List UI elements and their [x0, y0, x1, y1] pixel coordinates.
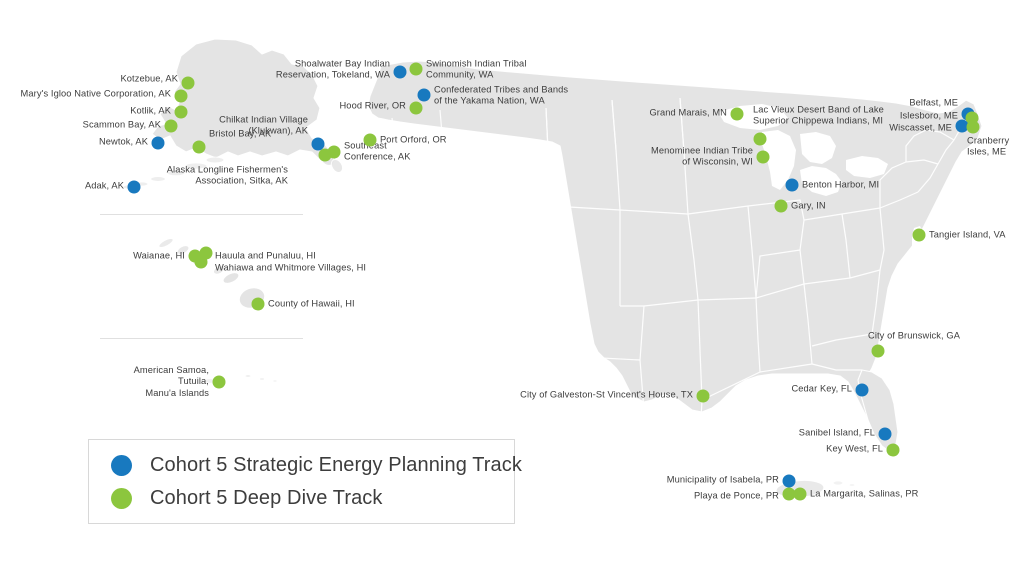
map-legend: Cohort 5 Strategic Energy Planning Track… — [88, 439, 515, 524]
map-marker-benton-harbor-mi[interactable] — [786, 179, 799, 192]
legend-swatch-strategic-icon — [111, 455, 132, 476]
map-marker-cranberry-isles-me[interactable] — [967, 121, 980, 134]
divider-alaska-hawaii — [100, 214, 303, 215]
map-label-belfast-me: Belfast, ME — [909, 97, 958, 108]
hawaii-islands — [158, 237, 268, 312]
map-marker-american-samoa[interactable] — [213, 376, 226, 389]
map-label-kotzebue-ak: Kotzebue, AK — [120, 73, 178, 84]
map-marker-scammon-bay-ak[interactable] — [165, 120, 178, 133]
map-label-gary-in: Gary, IN — [791, 200, 826, 211]
map-label-swinomish-wa: Swinomish Indian Tribal Community, WA — [426, 59, 526, 82]
map-label-cedar-key-fl: Cedar Key, FL — [791, 383, 852, 394]
map-marker-shoalwater-bay-wa[interactable] — [394, 66, 407, 79]
map-label-kotlik-ak: Kotlik, AK — [130, 105, 171, 116]
map-label-scammon-bay-ak: Scammon Bay, AK — [83, 119, 161, 130]
map-canvas: Kotzebue, AKMary's Igloo Native Corporat… — [0, 0, 1024, 576]
map-marker-marys-igloo-ak[interactable] — [175, 90, 188, 103]
map-marker-sanibel-island-fl[interactable] — [879, 428, 892, 441]
map-label-waianae-hi: Waianae, HI — [133, 250, 185, 261]
legend-label-deep-dive: Cohort 5 Deep Dive Track — [150, 487, 383, 510]
map-marker-lac-vieux-desert-mi[interactable] — [754, 133, 767, 146]
divider-hawaii-samoa — [100, 338, 303, 339]
map-label-city-of-brunswick-ga: City of Brunswick, GA — [868, 330, 960, 341]
map-marker-tangier-island-va[interactable] — [913, 229, 926, 242]
map-label-benton-harbor-mi: Benton Harbor, MI — [802, 179, 879, 190]
map-marker-grand-marais-mn[interactable] — [731, 108, 744, 121]
legend-label-strategic: Cohort 5 Strategic Energy Planning Track — [150, 454, 522, 477]
legend-item-strategic[interactable]: Cohort 5 Strategic Energy Planning Track — [111, 454, 522, 477]
map-marker-la-margarita-salinas-pr[interactable] — [794, 488, 807, 501]
map-label-wahiawa-whitmore-hi: Wahiawa and Whitmore Villages, HI — [215, 262, 366, 273]
map-label-grand-marais-mn: Grand Marais, MN — [649, 107, 727, 118]
map-label-county-of-hawaii-hi: County of Hawaii, HI — [268, 298, 355, 309]
map-label-adak-ak: Adak, AK — [85, 180, 124, 191]
legend-swatch-deep-dive-icon — [111, 488, 132, 509]
map-marker-menominee-wi[interactable] — [757, 151, 770, 164]
map-marker-wahiawa-whitmore-hi[interactable] — [195, 256, 208, 269]
map-label-chilkat-klukwan-ak: Chilkat Indian Village (Klukwan), AK — [219, 115, 308, 138]
map-marker-swinomish-wa[interactable] — [410, 63, 423, 76]
map-label-port-orford-or: Port Orford, OR — [380, 134, 447, 145]
map-label-marys-igloo-ak: Mary's Igloo Native Corporation, AK — [21, 88, 171, 99]
map-label-islesboro-me: Islesboro, ME — [900, 110, 958, 121]
map-label-alaska-longline-sitka-ak: Alaska Longline Fishermen's Association,… — [167, 165, 288, 188]
map-label-cranberry-isles-me: Cranberry Isles, ME — [967, 136, 1009, 159]
map-label-shoalwater-bay-wa: Shoalwater Bay Indian Reservation, Tokel… — [276, 59, 390, 82]
map-marker-hood-river-or[interactable] — [410, 102, 423, 115]
map-label-municipality-isabela-pr: Municipality of Isabela, PR — [667, 474, 779, 485]
map-label-key-west-fl: Key West, FL — [826, 443, 883, 454]
map-label-sanibel-island-fl: Sanibel Island, FL — [799, 427, 875, 438]
map-marker-city-of-galveston-tx[interactable] — [697, 390, 710, 403]
map-marker-municipality-isabela-pr[interactable] — [783, 475, 796, 488]
map-marker-southeast-conference-ak[interactable] — [328, 146, 341, 159]
map-label-wiscasset-me: Wiscasset, ME — [889, 122, 952, 133]
map-marker-adak-ak[interactable] — [128, 181, 141, 194]
map-marker-bristol-bay-ak[interactable] — [193, 141, 206, 154]
map-label-menominee-wi: Menominee Indian Tribe of Wisconsin, WI — [651, 146, 753, 169]
map-marker-cedar-key-fl[interactable] — [856, 384, 869, 397]
map-label-hauula-punaluu-hi: Hauula and Punaluu, HI — [215, 250, 316, 261]
map-marker-key-west-fl[interactable] — [887, 444, 900, 457]
map-label-newtok-ak: Newtok, AK — [99, 136, 148, 147]
map-label-lac-vieux-desert-mi: Lac Vieux Desert Band of Lake Superior C… — [753, 105, 884, 128]
map-marker-kotlik-ak[interactable] — [175, 106, 188, 119]
map-label-american-samoa: American Samoa, Tutuila, Manu'a Islands — [134, 365, 209, 399]
map-marker-kotzebue-ak[interactable] — [182, 77, 195, 90]
map-label-la-margarita-salinas-pr: La Margarita, Salinas, PR — [810, 488, 918, 499]
map-marker-yakama-nation-wa[interactable] — [418, 89, 431, 102]
map-marker-county-of-hawaii-hi[interactable] — [252, 298, 265, 311]
map-marker-newtok-ak[interactable] — [152, 137, 165, 150]
legend-item-deep-dive[interactable]: Cohort 5 Deep Dive Track — [111, 487, 383, 510]
map-label-playa-de-ponce-pr: Playa de Ponce, PR — [694, 490, 779, 501]
map-label-city-of-galveston-tx: City of Galveston-St Vincent's House, TX — [520, 389, 693, 400]
map-label-hood-river-or: Hood River, OR — [339, 100, 406, 111]
map-marker-port-orford-or[interactable] — [364, 134, 377, 147]
map-marker-gary-in[interactable] — [775, 200, 788, 213]
map-marker-city-of-brunswick-ga[interactable] — [872, 345, 885, 358]
map-label-yakama-nation-wa: Confederated Tribes and Bands of the Yak… — [434, 85, 568, 108]
map-label-tangier-island-va: Tangier Island, VA — [929, 229, 1006, 240]
